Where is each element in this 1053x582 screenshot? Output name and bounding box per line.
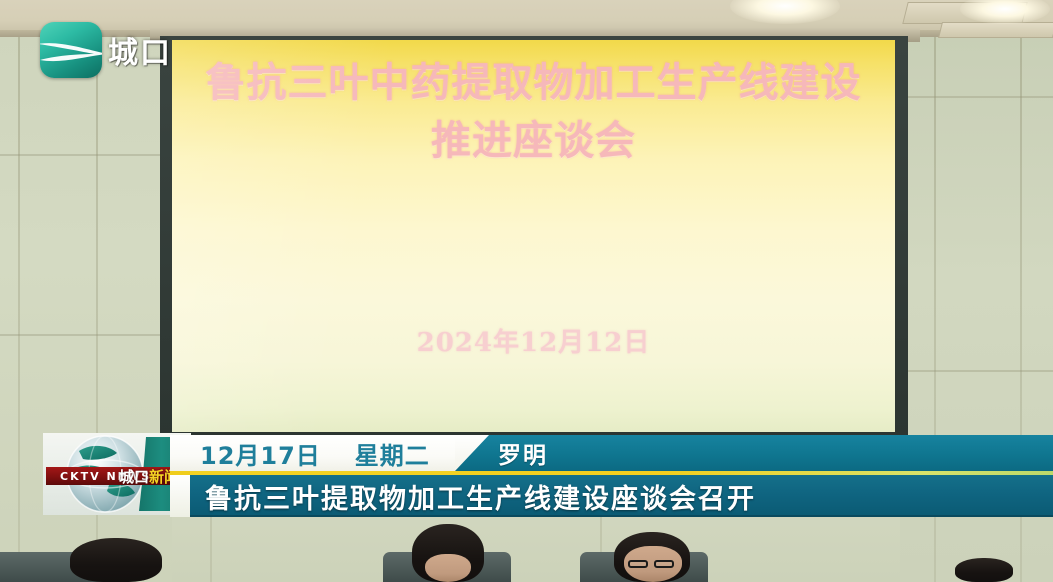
lower-third-banner: CKTV NEWS 城口 新闻 12月17日 星期二 罗明 鲁抗三叶提取物加工生… bbox=[0, 425, 1053, 520]
headline-text: 鲁抗三叶提取物加工生产线建设座谈会召开 bbox=[205, 475, 756, 517]
news-logo-badge: CKTV NEWS 城口 新闻 bbox=[43, 433, 191, 515]
swoosh-icon bbox=[40, 38, 102, 72]
channel-swoosh-logo-icon bbox=[40, 22, 102, 78]
broadcast-date-group: 12月17日 星期二 bbox=[200, 437, 470, 469]
ceiling-tile bbox=[938, 22, 1053, 38]
broadcast-frame: 鲁抗三叶中药提取物加工生产线建设 推进座谈会 2024年12月12日 城口 bbox=[0, 0, 1053, 582]
projector-screen: 鲁抗三叶中药提取物加工生产线建设 推进座谈会 2024年12月12日 bbox=[172, 40, 895, 432]
slide-date: 2024年12月12日 bbox=[172, 322, 895, 359]
broadcast-date: 12月17日 bbox=[200, 436, 321, 471]
reporter-name: 罗明 bbox=[498, 437, 548, 469]
badge-chinese-part-1: 城口 bbox=[119, 466, 149, 487]
attendees-row bbox=[0, 512, 1053, 582]
broadcast-weekday: 星期二 bbox=[355, 436, 430, 471]
eyeglasses bbox=[628, 560, 648, 568]
headline-bar-left-cap bbox=[170, 475, 192, 517]
channel-bug: 城口 bbox=[40, 22, 172, 78]
slide-title-line-2: 推进座谈会 bbox=[172, 112, 895, 170]
channel-bug-name: 城口 bbox=[108, 28, 172, 72]
attendee-head bbox=[955, 558, 1013, 582]
attendee-face bbox=[425, 554, 471, 582]
attendee-head bbox=[70, 538, 162, 582]
slide-title-line-1: 鲁抗三叶中药提取物加工生产线建设 bbox=[172, 54, 895, 112]
slide-title: 鲁抗三叶中药提取物加工生产线建设 推进座谈会 bbox=[172, 54, 895, 170]
eyeglasses bbox=[654, 560, 674, 568]
